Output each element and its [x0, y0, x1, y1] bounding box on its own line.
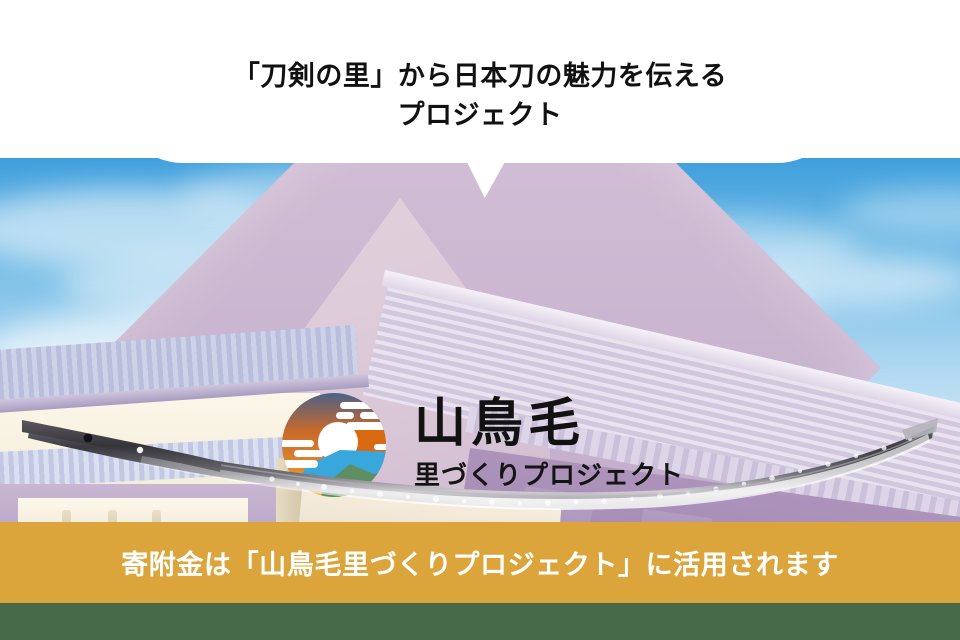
- speech-bubble-line-1: 「刀剣の里」から日本刀の魅力を伝える: [233, 58, 727, 96]
- project-logo: 山鳥毛 里づくりプロジェクト: [278, 386, 708, 504]
- furusato-donation-banner: 山鳥毛 里づくりプロジェクト: [0, 0, 960, 640]
- hero-photo: 山鳥毛 里づくりプロジェクト: [0, 158, 960, 522]
- cloud-shape: [840, 188, 960, 236]
- speech-bubble-line-2: プロジェクト: [233, 97, 727, 135]
- donation-usage-band: 寄附金は「山鳥毛里づくりプロジェクト」に活用されます: [0, 522, 960, 603]
- project-logo-subtitle: 里づくりプロジェクト: [414, 455, 684, 492]
- speech-bubble-text: 「刀剣の里」から日本刀の魅力を伝える プロジェクト: [233, 58, 727, 135]
- donation-usage-text: 寄附金は「山鳥毛里づくりプロジェクト」に活用されます: [121, 543, 839, 582]
- project-logo-title: 山鳥毛: [414, 398, 684, 451]
- project-logo-text: 山鳥毛 里づくりプロジェクト: [414, 398, 684, 492]
- speech-bubble: 「刀剣の里」から日本刀の魅力を伝える プロジェクト: [117, 30, 843, 163]
- sunset-village-circle-icon: [278, 388, 400, 502]
- footer-band: [0, 603, 960, 640]
